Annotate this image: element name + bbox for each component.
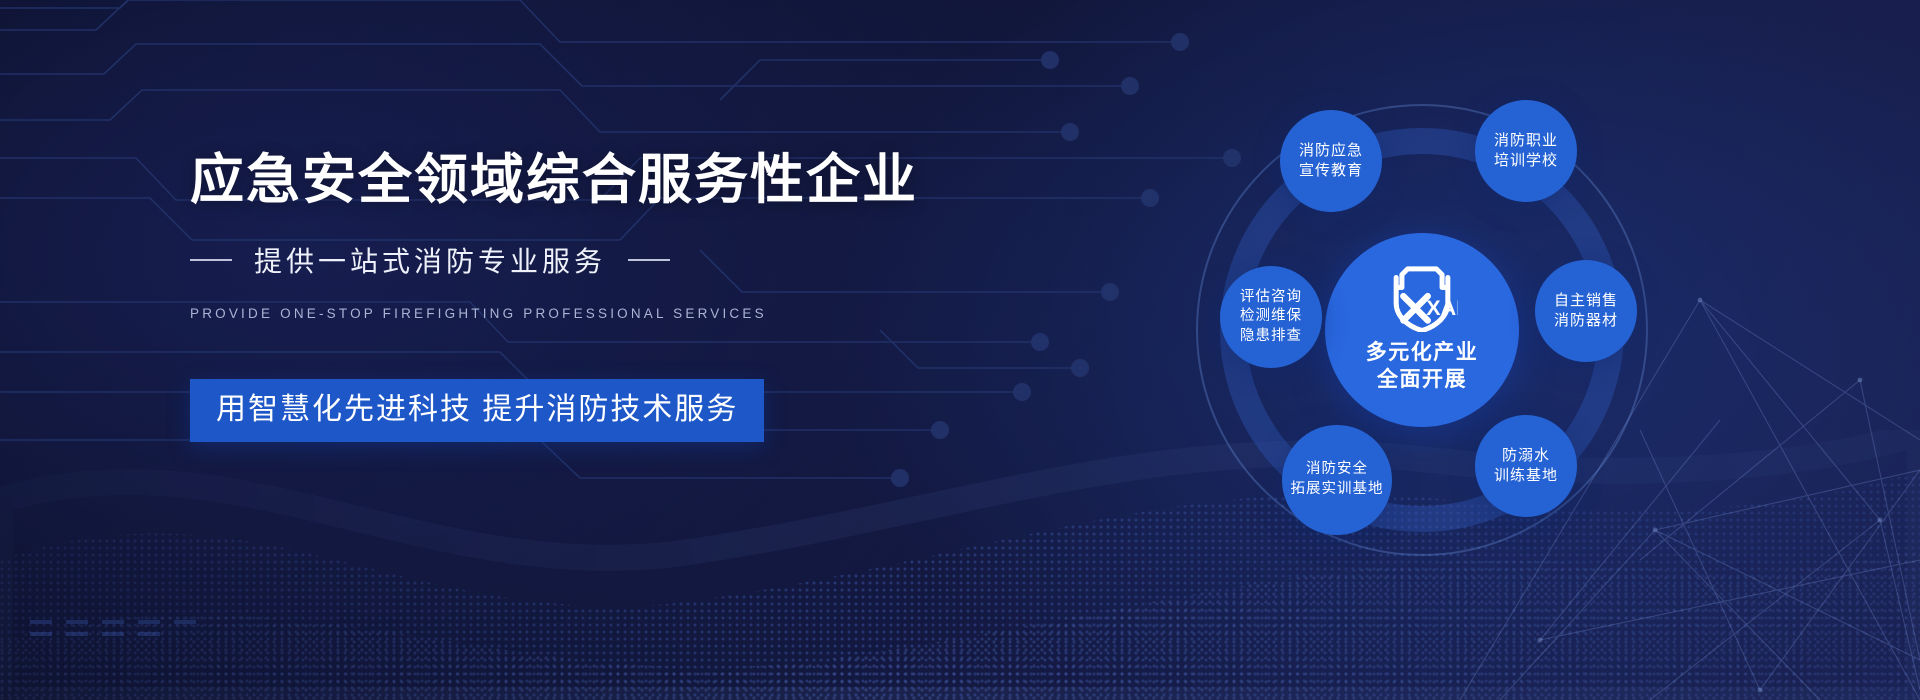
subtitle-row: 提供一站式消防专业服务 — [190, 240, 890, 280]
node-line3: 隐患排查 — [1240, 327, 1302, 347]
service-node-vocational-training-school[interactable]: 消防职业 培训学校 — [1475, 100, 1577, 202]
center-node-line1: 多元化产业 — [1366, 340, 1479, 367]
node-line1: 消防应急 — [1299, 141, 1363, 161]
service-node-safety-training-base[interactable]: 消防安全 拓展实训基地 — [1282, 425, 1392, 535]
node-line2: 拓展实训基地 — [1291, 480, 1384, 500]
node-line1: 消防职业 — [1494, 131, 1558, 151]
divider-dash-right — [628, 259, 670, 261]
svg-text:XAN: XAN — [1426, 296, 1458, 320]
diagram-center-node[interactable]: XAN 多元化产业 全面开展 — [1325, 233, 1519, 427]
service-node-fire-emergency-education[interactable]: 消防应急 宣传教育 — [1280, 110, 1382, 212]
center-node-labels: 多元化产业 全面开展 — [1366, 340, 1479, 394]
service-node-assessment-inspection[interactable]: 评估咨询 检测维保 隐患排查 — [1220, 266, 1322, 368]
node-line2: 消防器材 — [1554, 311, 1618, 331]
service-node-equipment-sales[interactable]: 自主销售 消防器材 — [1535, 260, 1637, 362]
node-line2: 检测维保 — [1240, 307, 1302, 327]
page-title: 应急安全领域综合服务性企业 — [190, 150, 890, 210]
node-line2: 培训学校 — [1494, 151, 1558, 171]
xan-shield-logo-icon: XAN — [1386, 266, 1458, 332]
subtitle: 提供一站式消防专业服务 — [254, 240, 606, 280]
node-line1: 评估咨询 — [1240, 288, 1302, 308]
hero-text-block: 应急安全领域综合服务性企业 提供一站式消防专业服务 PROVIDE ONE-ST… — [190, 150, 890, 442]
center-node-line2: 全面开展 — [1366, 367, 1479, 394]
node-line2: 宣传教育 — [1299, 161, 1363, 181]
service-node-anti-drowning-base[interactable]: 防溺水 训练基地 — [1475, 415, 1577, 517]
hero-banner: 应急安全领域综合服务性企业 提供一站式消防专业服务 PROVIDE ONE-ST… — [0, 0, 1920, 700]
slogan-banner[interactable]: 用智慧化先进科技 提升消防技术服务 — [190, 379, 764, 442]
node-line2: 训练基地 — [1494, 466, 1558, 486]
english-subtitle: PROVIDE ONE-STOP FIREFIGHTING PROFESSION… — [190, 306, 890, 321]
node-line1: 自主销售 — [1554, 291, 1618, 311]
node-line1: 消防安全 — [1306, 460, 1368, 480]
node-line1: 防溺水 — [1502, 446, 1550, 466]
divider-dash-left — [190, 259, 232, 261]
services-circle-diagram: XAN 多元化产业 全面开展 消防应急 宣传教育 消防职业 培训学校 评估咨询 … — [1120, 70, 1820, 630]
